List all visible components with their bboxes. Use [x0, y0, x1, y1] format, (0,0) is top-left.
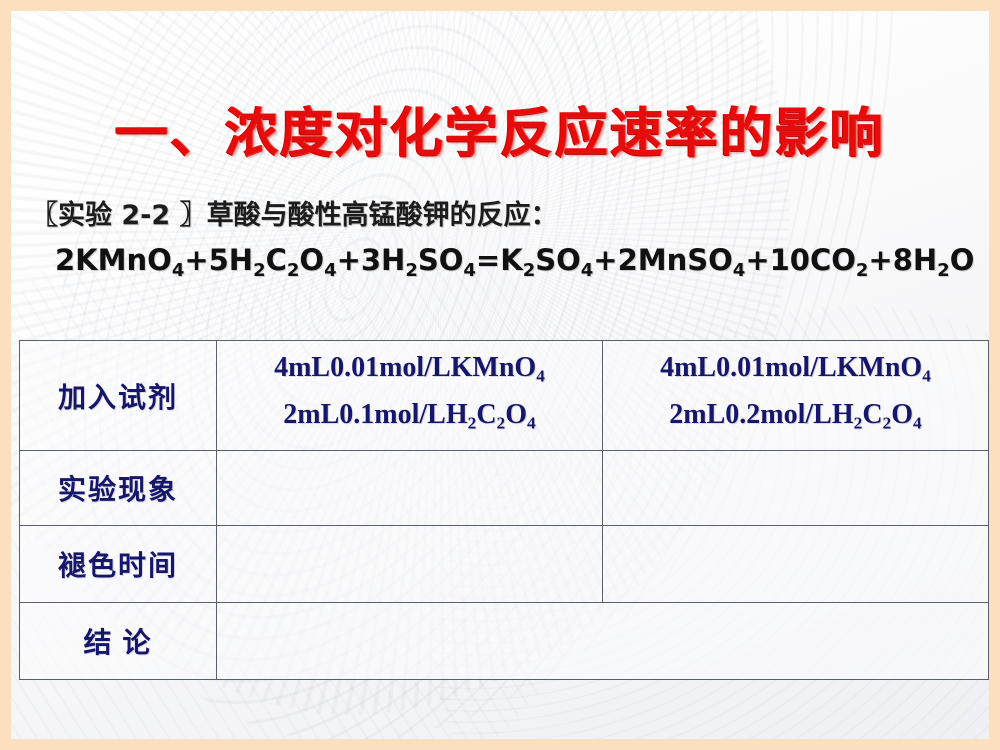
table-row: 褪色时间 — [20, 526, 989, 603]
row-header-fade-time: 褪色时间 — [20, 526, 217, 603]
cell-line: 4mL0.01mol/LKMnO4 — [609, 349, 982, 396]
row-header-phenomenon: 实验现象 — [20, 451, 217, 526]
chemical-equation: 2KMnO4+5H2C2O4+3H2SO4=K2SO4+2MnSO4+10CO2… — [55, 241, 974, 290]
table-row: 结 论 — [20, 603, 989, 680]
cell-phenomenon-group-2[interactable] — [603, 451, 989, 526]
cell-reagents-group-1[interactable]: 4mL0.01mol/LKMnO4 2mL0.1mol/LH2C2O4 — [217, 341, 603, 451]
cell-line: 2mL0.2mol/LH2C2O4 — [609, 396, 982, 443]
experiment-table: 加入试剂 4mL0.01mol/LKMnO4 2mL0.1mol/LH2C2O4… — [19, 340, 989, 680]
row-header-reagents: 加入试剂 — [20, 341, 217, 451]
cell-conclusion[interactable] — [217, 603, 989, 680]
cell-line: 2mL0.1mol/LH2C2O4 — [223, 396, 596, 443]
slide-canvas: 一、浓度对化学反应速率的影响 〖实验 2-2 〗草酸与酸性高锰酸钾的反应： 2K… — [11, 11, 989, 739]
cell-fade-time-group-2[interactable] — [603, 526, 989, 603]
experiment-subtitle: 〖实验 2-2 〗草酸与酸性高锰酸钾的反应： — [31, 199, 558, 233]
cell-phenomenon-group-1[interactable] — [217, 451, 603, 526]
table-row: 实验现象 — [20, 451, 989, 526]
row-header-conclusion: 结 论 — [20, 603, 217, 680]
table-row: 加入试剂 4mL0.01mol/LKMnO4 2mL0.1mol/LH2C2O4… — [20, 341, 989, 451]
cell-fade-time-group-1[interactable] — [217, 526, 603, 603]
page-title: 一、浓度对化学反应速率的影响 — [11, 103, 989, 165]
cell-line: 4mL0.01mol/LKMnO4 — [223, 349, 596, 396]
cell-reagents-group-2[interactable]: 4mL0.01mol/LKMnO4 2mL0.2mol/LH2C2O4 — [603, 341, 989, 451]
slide-content: 一、浓度对化学反应速率的影响 〖实验 2-2 〗草酸与酸性高锰酸钾的反应： 2K… — [11, 11, 989, 739]
slide-frame: 一、浓度对化学反应速率的影响 〖实验 2-2 〗草酸与酸性高锰酸钾的反应： 2K… — [0, 0, 1000, 750]
